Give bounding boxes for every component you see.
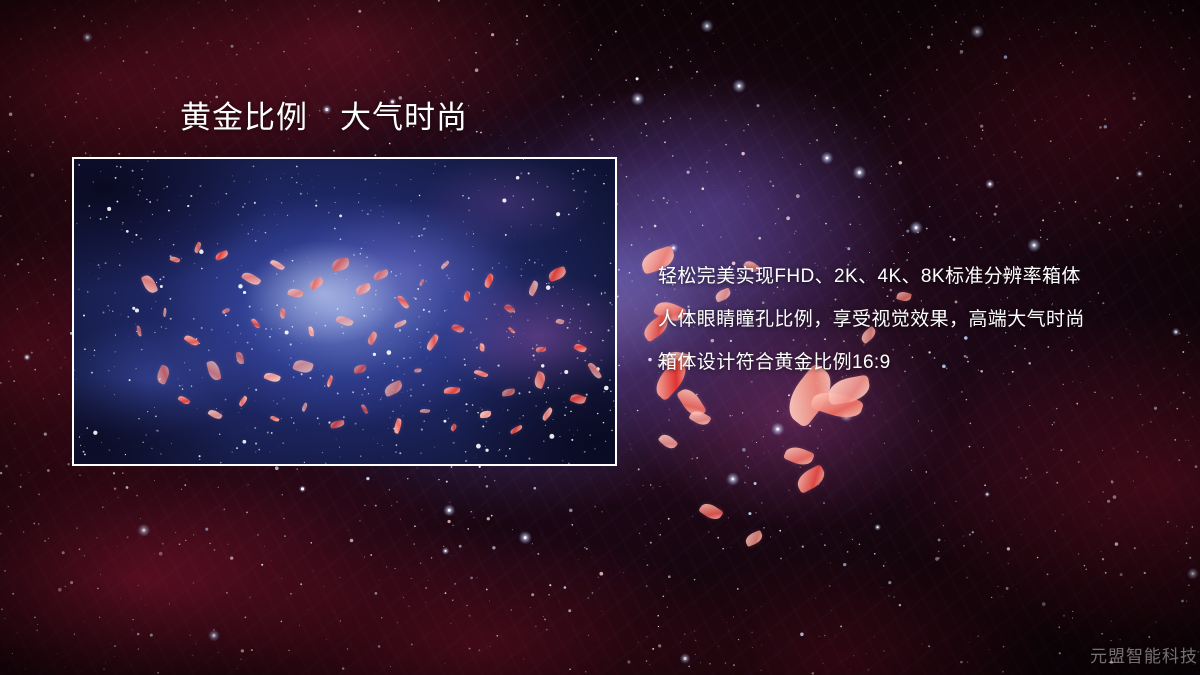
body-line-1: 轻松完美实现FHD、2K、4K、8K标准分辨率箱体 xyxy=(658,255,1178,298)
petal xyxy=(783,443,815,468)
framed-image-panel xyxy=(72,157,617,466)
slide-title: 黄金比例 大气时尚 xyxy=(180,101,468,135)
petal xyxy=(794,464,829,494)
body-line-3: 箱体设计符合黄金比例16:9 xyxy=(658,341,1178,384)
panel-corner-shade xyxy=(74,159,615,464)
body-line-2: 人体眼睛瞳孔比例，享受视觉效果，高端大气时尚 xyxy=(658,298,1178,341)
framed-image-content xyxy=(74,159,615,464)
petal xyxy=(676,385,707,420)
petal xyxy=(688,408,711,428)
presentation-slide: 黄金比例 大气时尚 轻松完美实现FHD、2K、4K、8K标准分辨率箱体 人体眼睛… xyxy=(0,0,1200,675)
slide-body-text: 轻松完美实现FHD、2K、4K、8K标准分辨率箱体 人体眼睛瞳孔比例，享受视觉效… xyxy=(658,255,1178,384)
petal xyxy=(698,500,724,523)
petal xyxy=(744,530,765,547)
company-watermark: 元盟智能科技 xyxy=(1090,642,1198,667)
petal xyxy=(810,387,864,423)
petal xyxy=(658,431,679,451)
